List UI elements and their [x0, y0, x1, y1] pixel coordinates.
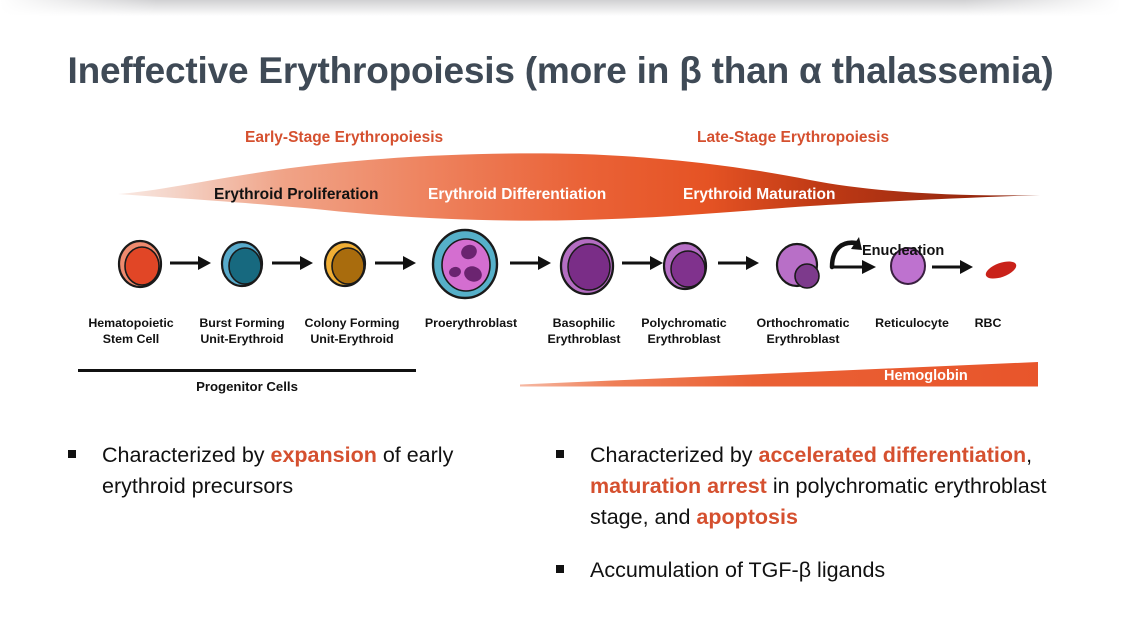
label-colony-forming-unit-erythroid: Colony Forming Unit-Erythroid: [286, 316, 418, 347]
cell-orthochromatic-erythroblast: [772, 238, 830, 296]
bullet-square-icon: [556, 565, 564, 573]
bullet-highlight: maturation arrest: [590, 474, 767, 498]
cell-colony-forming-unit-erythroid: [318, 232, 376, 294]
caption-late-stage: Late-Stage Erythropoiesis: [697, 129, 889, 147]
arrow-cfue-to-proerythroblast: [373, 254, 417, 272]
label-line-2: Unit-Erythroid: [286, 332, 418, 348]
label-orthochromatic-erythroblast: Orthochromatic Erythroblast: [738, 316, 868, 347]
bullet-item: Accumulation of TGF-β ligands: [550, 555, 1070, 586]
bullet-list-right: Characterized by accelerated differentia…: [550, 440, 1070, 608]
arrow-reticulocyte-to-rbc: [930, 258, 974, 276]
label-line-1: RBC: [958, 316, 1018, 332]
bullet-text: Characterized by accelerated differentia…: [590, 440, 1070, 533]
enucleation-label: Enucleation: [862, 243, 944, 259]
label-line-1: Colony Forming: [286, 316, 418, 332]
arrow-proerythroblast-to-basophilic: [508, 254, 552, 272]
ribbon-label-proliferation: Erythroid Proliferation: [214, 186, 379, 204]
cell-lineage-row: [0, 232, 1121, 312]
label-polychromatic-erythroblast: Polychromatic Erythroblast: [620, 316, 748, 347]
bullet-plain: Characterized by: [590, 443, 759, 467]
cell-basophilic-erythroblast: [553, 229, 623, 303]
bullet-item: Characterized by expansion of early eryt…: [62, 440, 532, 502]
label-line-2: Erythroblast: [620, 332, 748, 348]
label-line-2: Erythroblast: [738, 332, 868, 348]
bullet-highlight: expansion: [271, 443, 377, 467]
label-line-1: Proerythroblast: [406, 316, 536, 332]
bullet-plain: Characterized by: [102, 443, 271, 467]
label-rbc: RBC: [958, 316, 1018, 332]
arrow-polychromatic-to-orthochromatic: [716, 254, 760, 272]
bullet-highlight: apoptosis: [696, 505, 798, 529]
bullet-text: Accumulation of TGF-β ligands: [590, 555, 1070, 586]
bullet-highlight: accelerated differentiation: [759, 443, 1027, 467]
ribbon-label-differentiation: Erythroid Differentiation: [428, 186, 606, 204]
bullet-square-icon: [556, 450, 564, 458]
label-line-1: Polychromatic: [620, 316, 748, 332]
arrow-hsc-to-bfue: [168, 254, 212, 272]
label-proerythroblast: Proerythroblast: [406, 316, 536, 332]
bullet-text: Characterized by expansion of early eryt…: [102, 440, 532, 502]
cell-hematopoietic-stem-cell: [112, 232, 170, 294]
top-shadow-strip: [0, 0, 1121, 16]
bullet-plain: ,: [1026, 443, 1032, 467]
cell-red-blood-cell: [978, 254, 1024, 286]
caption-early-stage: Early-Stage Erythropoiesis: [245, 129, 443, 147]
page-title: Ineffective Erythropoiesis (more in β th…: [0, 50, 1121, 92]
ribbon-label-maturation: Erythroid Maturation: [683, 186, 835, 204]
slide: Ineffective Erythropoiesis (more in β th…: [0, 0, 1121, 633]
bullet-plain: Accumulation of TGF-β ligands: [590, 558, 885, 582]
label-reticulocyte: Reticulocyte: [862, 316, 962, 332]
progenitor-bracket-line: [78, 369, 416, 372]
cell-burst-forming-unit-erythroid: [215, 232, 273, 294]
label-line-1: Orthochromatic: [738, 316, 868, 332]
bullet-item: Characterized by accelerated differentia…: [550, 440, 1070, 533]
cell-polychromatic-erythroblast: [657, 236, 717, 298]
bullet-square-icon: [68, 450, 76, 458]
bullet-list-left: Characterized by expansion of early eryt…: [62, 440, 532, 524]
arrow-bfue-to-cfue: [270, 254, 314, 272]
hemoglobin-label: Hemoglobin: [884, 368, 968, 384]
cell-proerythroblast: [425, 222, 505, 306]
progenitor-cells-label: Progenitor Cells: [78, 379, 416, 394]
label-line-1: Reticulocyte: [862, 316, 962, 332]
